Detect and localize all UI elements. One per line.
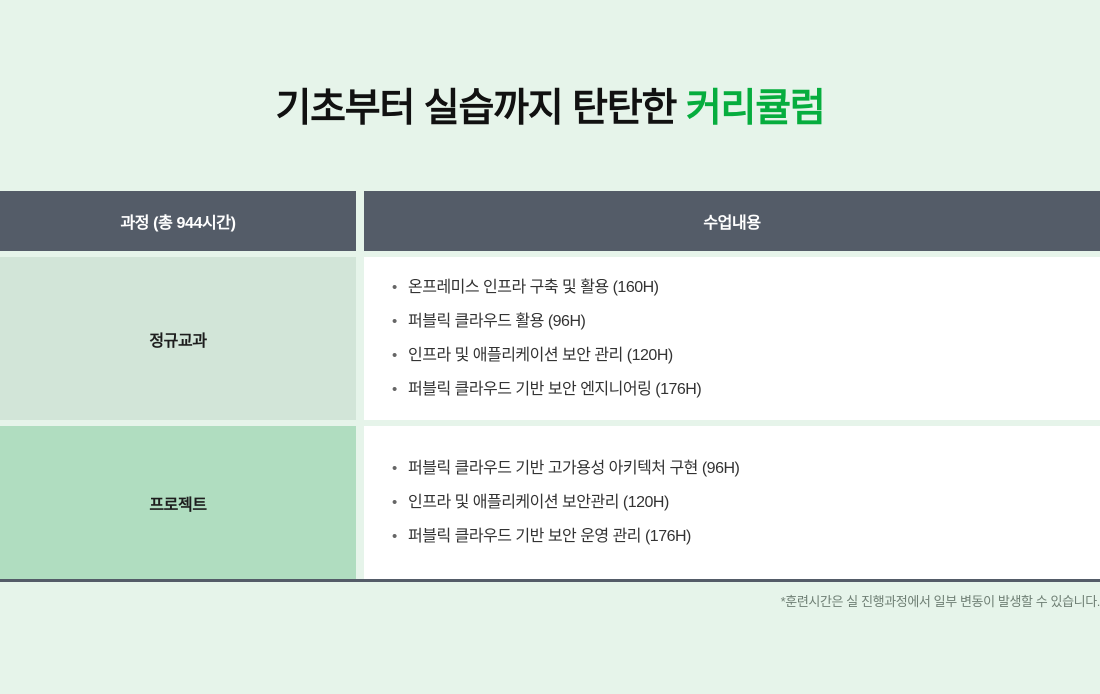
list-item: • 인프라 및 애플리케이션 보안 관리 (120H) xyxy=(392,339,1100,373)
page-title-accent: 커리큘럼 xyxy=(686,87,825,130)
table-header-cell-content: 수업내용 xyxy=(364,191,1100,251)
bullet-dot-icon: • xyxy=(392,339,408,373)
row-label-cell-regular: 정규교과 xyxy=(0,257,356,420)
list-item-label: 온프레미스 인프라 구축 및 활용 (160H) xyxy=(408,271,659,305)
list-item: • 온프레미스 인프라 구축 및 활용 (160H) xyxy=(392,271,1100,305)
bullet-dot-icon: • xyxy=(392,452,408,486)
row-content-cell-regular: • 온프레미스 인프라 구축 및 활용 (160H) • 퍼블릭 클라우드 활용… xyxy=(364,257,1100,420)
column-gap xyxy=(356,426,364,579)
list-item: • 퍼블릭 클라우드 활용 (96H) xyxy=(392,305,1100,339)
curriculum-table: 과정 (총 944시간) 수업내용 정규교과 • 온프레미스 인프라 구축 및 … xyxy=(0,191,1100,582)
bullet-dot-icon: • xyxy=(392,305,408,339)
table-header-row: 과정 (총 944시간) 수업내용 xyxy=(0,191,1100,251)
row-label-project: 프로젝트 xyxy=(149,491,206,515)
bullet-dot-icon: • xyxy=(392,373,408,407)
row-label-cell-project: 프로젝트 xyxy=(0,426,356,579)
list-item-label: 퍼블릭 클라우드 기반 보안 운영 관리 (176H) xyxy=(408,520,691,554)
table-header-label-course: 과정 (총 944시간) xyxy=(120,209,235,233)
footnote: *훈련시간은 실 진행과정에서 일부 변동이 발생할 수 있습니다. xyxy=(0,591,1100,610)
table-row: 프로젝트 • 퍼블릭 클라우드 기반 고가용성 아키텍처 구현 (96H) • … xyxy=(0,426,1100,579)
bullet-list-project: • 퍼블릭 클라우드 기반 고가용성 아키텍처 구현 (96H) • 인프라 및… xyxy=(392,452,1100,554)
page-title-main: 기초부터 실습까지 탄탄한 xyxy=(275,87,685,130)
list-item: • 인프라 및 애플리케이션 보안관리 (120H) xyxy=(392,486,1100,520)
list-item-label: 인프라 및 애플리케이션 보안관리 (120H) xyxy=(408,486,669,520)
table-header-cell-course: 과정 (총 944시간) xyxy=(0,191,356,251)
table-header-label-content: 수업내용 xyxy=(703,209,760,233)
list-item: • 퍼블릭 클라우드 기반 보안 엔지니어링 (176H) xyxy=(392,373,1100,407)
page-title: 기초부터 실습까지 탄탄한 커리큘럼 xyxy=(0,86,1100,133)
table-bottom-border xyxy=(0,579,1100,582)
list-item-label: 인프라 및 애플리케이션 보안 관리 (120H) xyxy=(408,339,673,373)
column-gap xyxy=(356,191,364,251)
list-item-label: 퍼블릭 클라우드 기반 보안 엔지니어링 (176H) xyxy=(408,373,701,407)
list-item-label: 퍼블릭 클라우드 활용 (96H) xyxy=(408,305,585,339)
bullet-list-regular: • 온프레미스 인프라 구축 및 활용 (160H) • 퍼블릭 클라우드 활용… xyxy=(392,271,1100,407)
table-row: 정규교과 • 온프레미스 인프라 구축 및 활용 (160H) • 퍼블릭 클라… xyxy=(0,257,1100,420)
column-gap xyxy=(356,257,364,420)
page-title-text: 기초부터 실습까지 탄탄한 커리큘럼 xyxy=(0,86,1100,133)
row-content-cell-project: • 퍼블릭 클라우드 기반 고가용성 아키텍처 구현 (96H) • 인프라 및… xyxy=(364,426,1100,579)
list-item: • 퍼블릭 클라우드 기반 고가용성 아키텍처 구현 (96H) xyxy=(392,452,1100,486)
bullet-dot-icon: • xyxy=(392,520,408,554)
list-item-label: 퍼블릭 클라우드 기반 고가용성 아키텍처 구현 (96H) xyxy=(408,452,739,486)
row-label-regular: 정규교과 xyxy=(149,327,206,351)
bullet-dot-icon: • xyxy=(392,486,408,520)
list-item: • 퍼블릭 클라우드 기반 보안 운영 관리 (176H) xyxy=(392,520,1100,554)
curriculum-page: 기초부터 실습까지 탄탄한 커리큘럼 과정 (총 944시간) 수업내용 정규교… xyxy=(0,0,1100,694)
bullet-dot-icon: • xyxy=(392,271,408,305)
